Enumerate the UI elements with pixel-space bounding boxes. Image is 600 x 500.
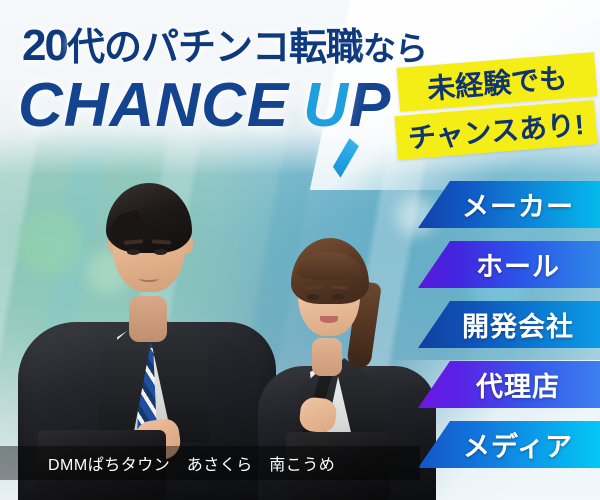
logo-word-chance: CHANCE <box>18 71 289 140</box>
male-neck <box>129 296 167 342</box>
category-button-agency[interactable]: 代理店 <box>418 361 600 408</box>
headline: 20代のパチンコ転職なら <box>22 16 427 71</box>
logo-letter-p: P <box>349 71 391 140</box>
male-mouth <box>139 275 159 282</box>
badge-no-experience-label: 未経験でも <box>426 56 569 107</box>
male-eye-right <box>154 249 167 255</box>
female-eye-right <box>332 294 344 300</box>
category-button-development-company[interactable]: 開発会社 <box>418 301 600 348</box>
female-hand <box>298 396 337 434</box>
category-button-maker[interactable]: メーカー <box>418 181 600 228</box>
headline-suffix: なら <box>363 30 427 67</box>
category-label-development-company: 開発会社 <box>444 305 574 344</box>
headline-number: 20 <box>22 21 67 70</box>
category-label-media: メディア <box>445 425 573 464</box>
female-neck <box>312 338 342 376</box>
chance-up-logo: CHANCEUP <box>18 70 391 141</box>
female-eye-left <box>307 294 319 300</box>
male-eye-left <box>127 249 140 255</box>
logo-word-up: UP <box>303 71 391 140</box>
category-button-media[interactable]: メディア <box>418 421 600 468</box>
recruitment-banner[interactable]: 20代のパチンコ転職なら CHANCEUP 未経験でも チャンスあり! メーカー… <box>0 0 600 500</box>
female-mouth <box>320 316 338 323</box>
bokeh-light-1 <box>18 210 84 276</box>
category-label-maker: メーカー <box>444 185 574 224</box>
logo-letter-u: U <box>303 71 349 140</box>
credit-strip: DMMぱちタウン あさくら 南こうめ <box>0 446 420 480</box>
category-label-hall: ホール <box>458 245 560 284</box>
category-button-hall[interactable]: ホール <box>418 241 600 288</box>
headline-main: 代のパチンコ転職 <box>67 27 363 69</box>
category-label-agency: 代理店 <box>458 365 560 404</box>
credit-text: DMMぱちタウン あさくら 南こうめ <box>48 451 335 475</box>
